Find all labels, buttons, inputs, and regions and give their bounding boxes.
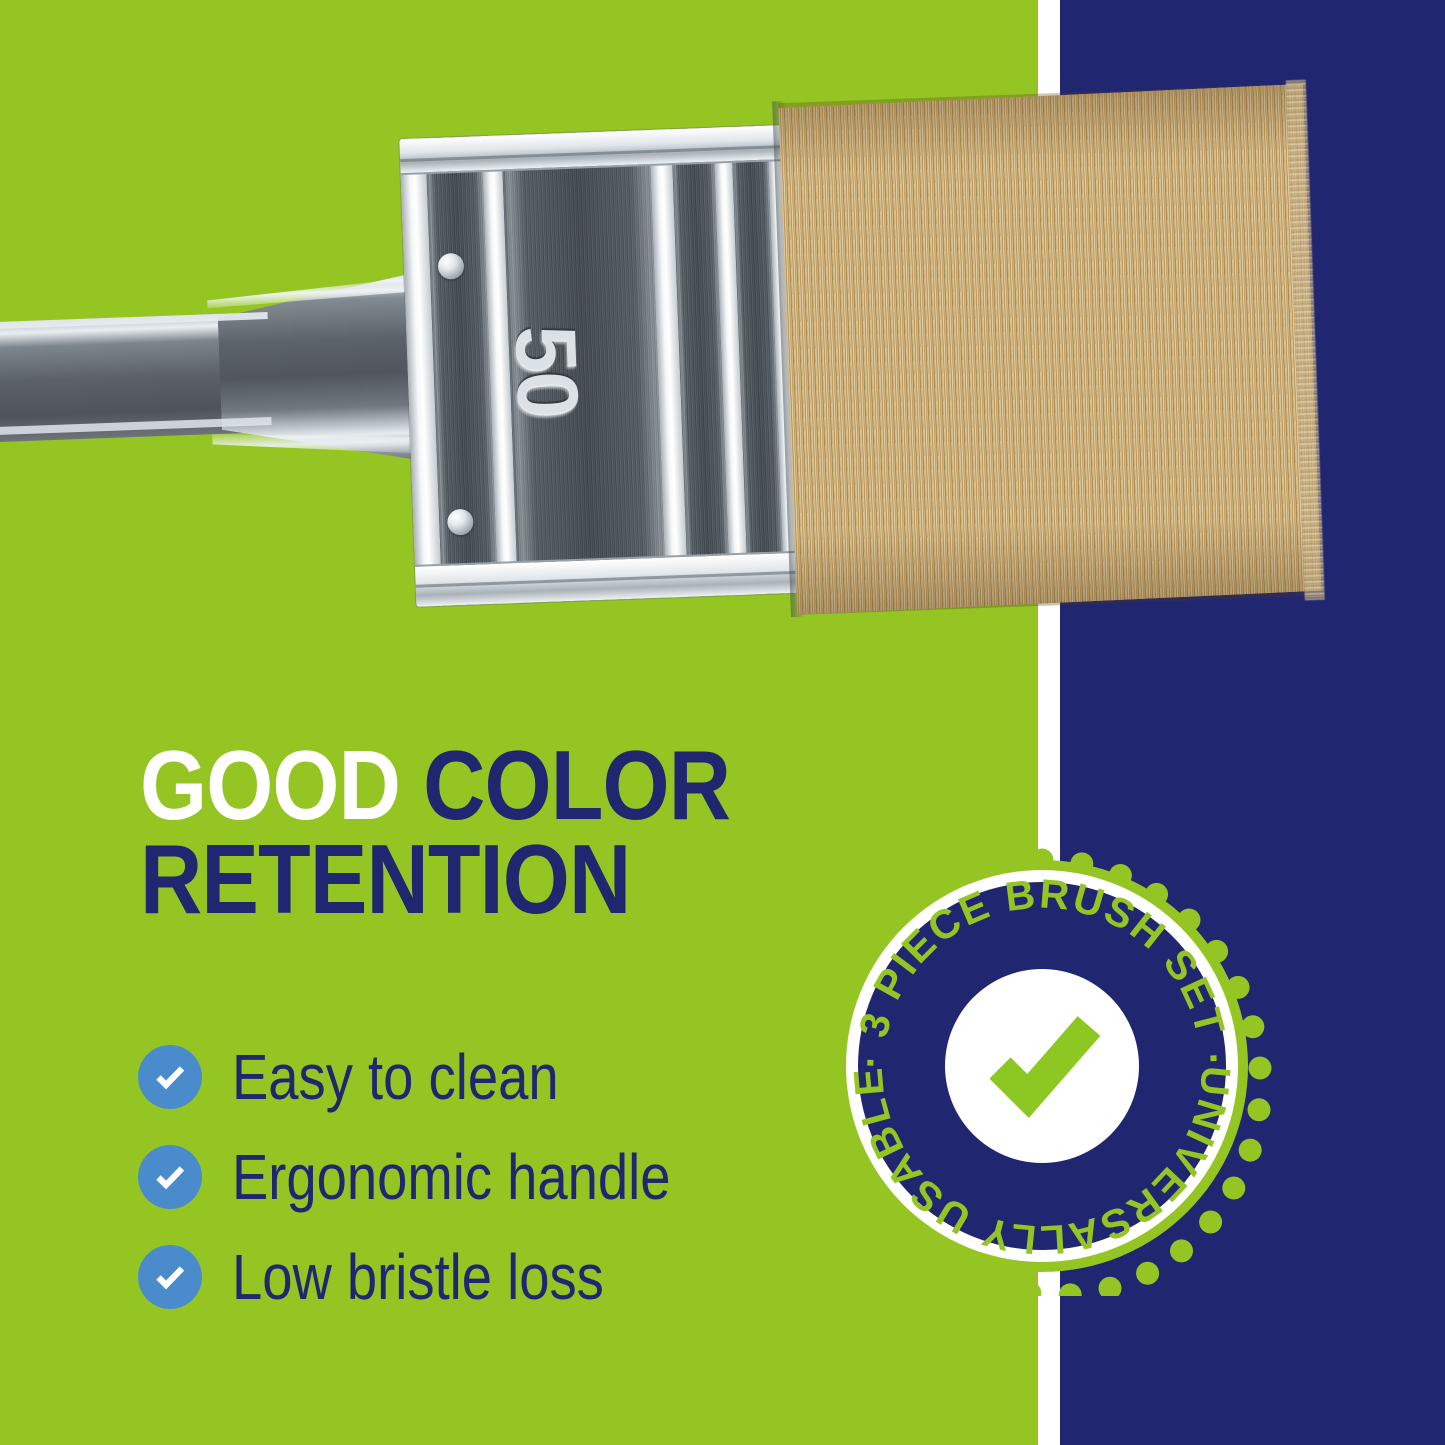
headline: GOOD COLOR RETENTION: [140, 738, 862, 926]
ferrule-size-stamp: 50: [495, 324, 597, 419]
feature-label: Easy to clean: [232, 1040, 559, 1114]
paint-brush-image: 50: [0, 45, 1340, 674]
headline-line-2: RETENTION: [140, 832, 862, 926]
brush-ferrule: 50: [399, 125, 801, 607]
check-icon: [138, 1245, 202, 1309]
headline-line-1: GOOD COLOR: [140, 738, 862, 832]
check-icon: [138, 1045, 202, 1109]
product-seal-badge: · 3 PIECE BRUSH SET · UNIVERSALLY USABLE: [812, 836, 1272, 1296]
feature-label: Ergonomic handle: [232, 1140, 670, 1214]
brush-handle: [0, 266, 443, 483]
check-icon: [138, 1145, 202, 1209]
product-banner: 50 GOOD COLOR RETENTION Easy to clean: [0, 0, 1445, 1445]
feature-label: Low bristle loss: [232, 1240, 604, 1314]
